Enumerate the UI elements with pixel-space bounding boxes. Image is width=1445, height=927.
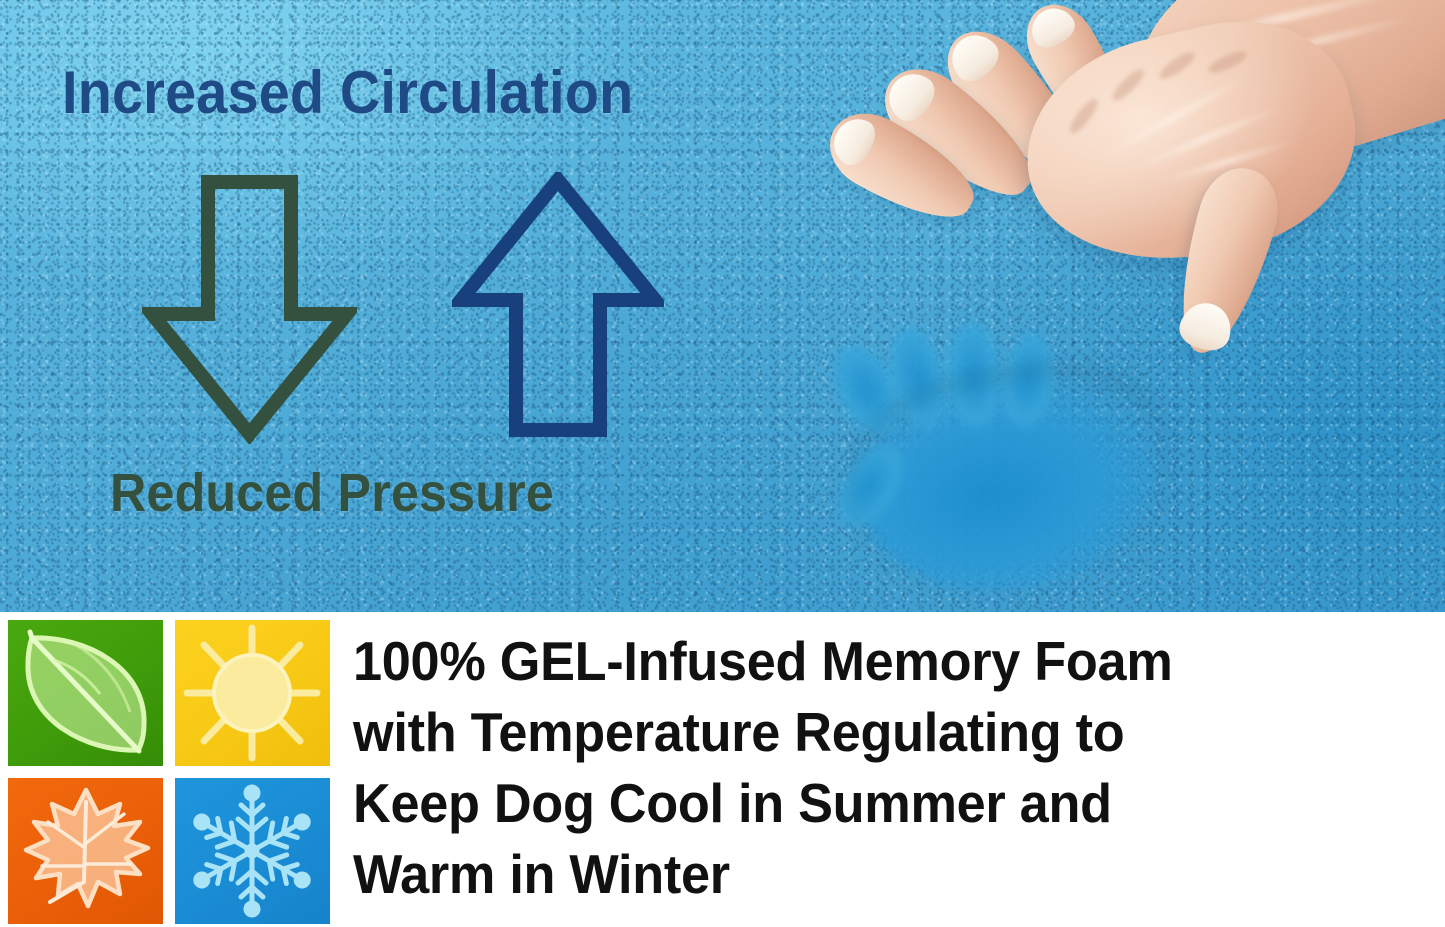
headline-line-3: Keep Dog Cool in Summer and — [353, 768, 1384, 839]
fingernail — [1024, 1, 1080, 54]
leaf-icon — [8, 620, 163, 766]
summer-sun-tile — [175, 620, 330, 766]
winter-snow-tile — [175, 778, 330, 924]
snowflake-icon — [175, 778, 330, 924]
fingernail — [826, 111, 882, 171]
spring-leaf-tile — [8, 620, 163, 766]
sun-icon — [175, 620, 330, 766]
fingernail — [942, 26, 1006, 89]
reduced-pressure-label: Reduced Pressure — [110, 462, 554, 524]
increased-circulation-label: Increased Circulation — [62, 58, 633, 127]
maple-leaf-icon — [8, 778, 163, 924]
down-arrow-icon — [142, 172, 357, 444]
headline-copy: 100% GEL-Infused Memory Foam with Temper… — [353, 626, 1438, 910]
headline-line-2: with Temperature Regulating to — [353, 697, 1384, 768]
headline-line-1: 100% GEL-Infused Memory Foam — [353, 626, 1384, 697]
headline-line-4: Warm in Winter — [353, 839, 1384, 910]
hand-pressing-foam — [830, 0, 1445, 400]
feature-caption-panel: 100% GEL-Infused Memory Foam with Temper… — [0, 612, 1445, 927]
season-icon-grid — [8, 620, 330, 918]
up-arrow-icon — [452, 172, 664, 440]
autumn-maple-tile — [8, 778, 163, 924]
fingernail — [1175, 298, 1237, 356]
product-feature-graphic: Increased Circulation Reduced Pressure — [0, 0, 1445, 927]
foam-photo-panel: Increased Circulation Reduced Pressure — [0, 0, 1445, 612]
